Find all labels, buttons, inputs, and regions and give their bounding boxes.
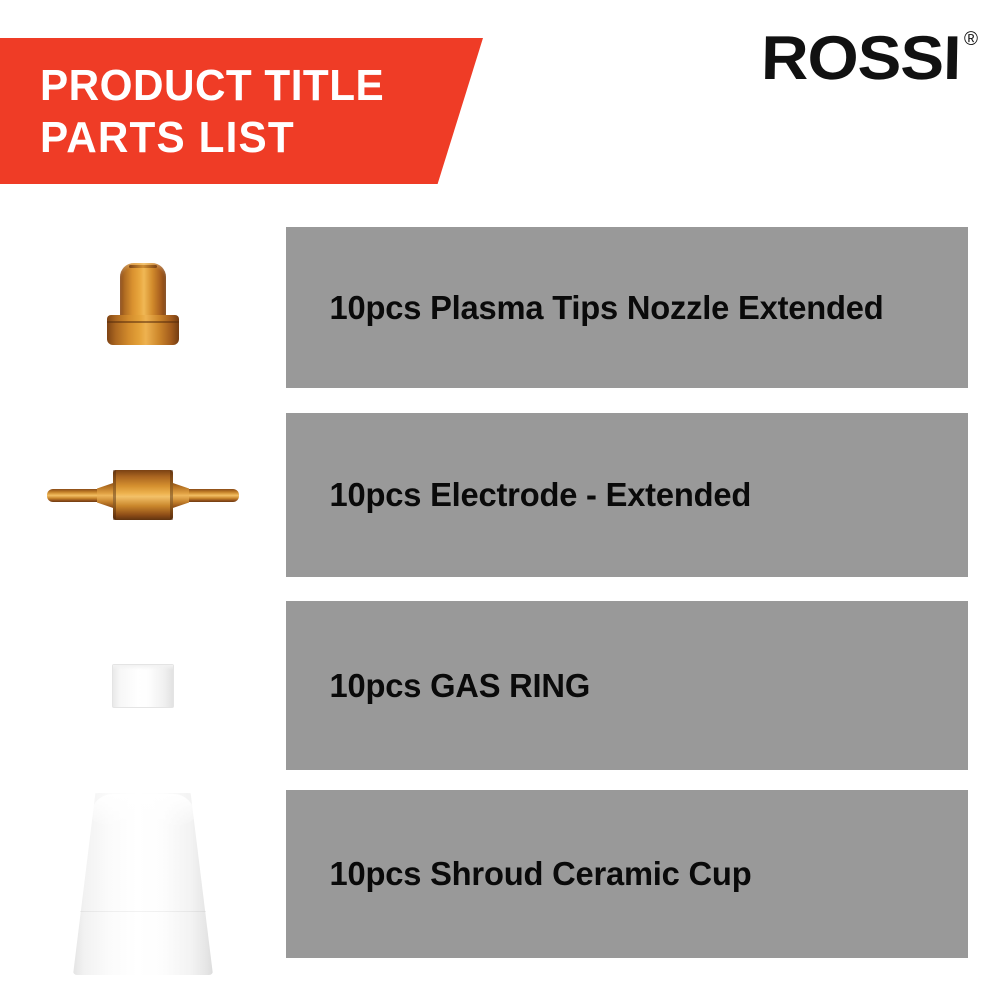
electrode-barrel-left-edge-shape: [113, 470, 116, 520]
part-thumbnail: [0, 601, 286, 770]
nozzle-flange-shape: [107, 315, 179, 345]
electrode-image: [43, 468, 243, 522]
gas-ring-top-highlight-shape: [113, 665, 173, 670]
electrode-barrel-shape: [113, 470, 173, 520]
shroud-ceramic-cup-image: [73, 793, 213, 975]
part-label-bar: 10pcs GAS RING: [286, 601, 968, 770]
parts-list: 10pcs Plasma Tips Nozzle Extended 10pcs …: [0, 0, 1000, 1000]
parts-list-row: 10pcs GAS RING: [0, 601, 1000, 770]
part-label: 10pcs GAS RING: [286, 667, 590, 705]
part-label: 10pcs Shroud Ceramic Cup: [286, 855, 751, 893]
part-label-bar: 10pcs Electrode - Extended: [286, 413, 968, 577]
nozzle-top-seam-shape: [129, 265, 157, 268]
nozzle-flange-line-shape: [107, 321, 179, 323]
electrode-barrel-right-edge-shape: [170, 470, 173, 520]
plasma-nozzle-tip-image: [103, 263, 183, 353]
parts-list-row: 10pcs Plasma Tips Nozzle Extended: [0, 227, 1000, 388]
part-label: 10pcs Electrode - Extended: [286, 476, 751, 514]
part-label-bar: 10pcs Plasma Tips Nozzle Extended: [286, 227, 968, 388]
part-label: 10pcs Plasma Tips Nozzle Extended: [286, 289, 883, 327]
parts-list-row: 10pcs Electrode - Extended: [0, 413, 1000, 577]
part-label-bar: 10pcs Shroud Ceramic Cup: [286, 790, 968, 958]
gas-ring-image: [112, 664, 174, 708]
part-thumbnail: [0, 413, 286, 577]
part-thumbnail: [0, 789, 286, 979]
ceramic-cup-top-highlight-shape: [91, 794, 195, 828]
part-thumbnail: [0, 227, 286, 388]
parts-list-row: 10pcs Shroud Ceramic Cup: [0, 790, 1000, 958]
ceramic-cup-seam-shape: [80, 911, 206, 912]
